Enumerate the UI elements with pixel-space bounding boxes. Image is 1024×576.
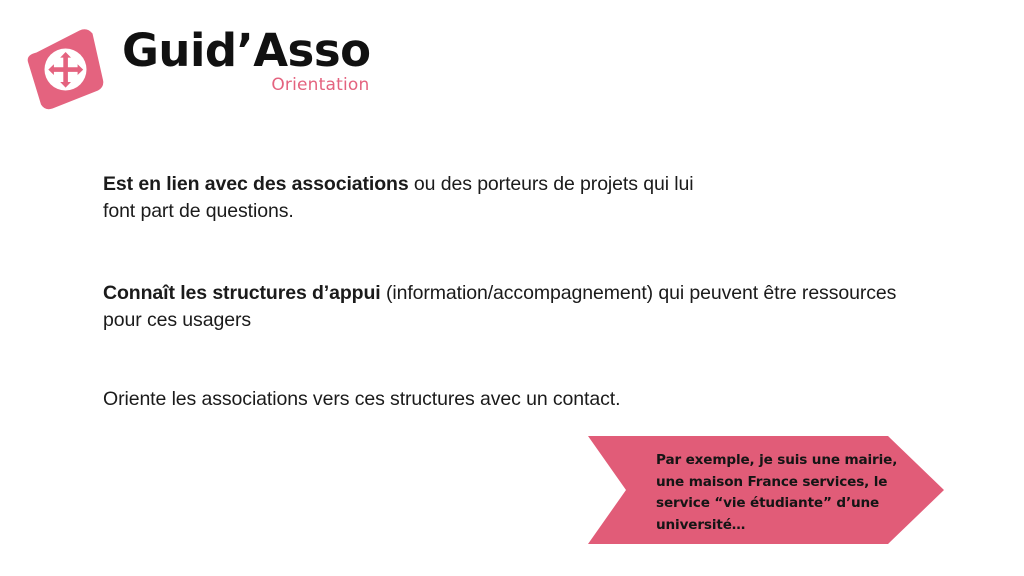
paragraph-2-lead: Connaît les structures d’appui: [103, 282, 381, 304]
body-copy: Est en lien avec des associations ou des…: [103, 171, 948, 413]
paragraph-1: Est en lien avec des associations ou des…: [103, 171, 723, 225]
paragraph-3-rest: Oriente les associations vers ces struct…: [103, 388, 620, 410]
paragraph-3: Oriente les associations vers ces struct…: [103, 386, 948, 413]
paragraph-2: Connaît les structures d’appui (informat…: [103, 280, 933, 334]
four-way-direction-arrow-icon: [24, 28, 106, 110]
slide-canvas: Guid’Asso Orientation Est en lien avec d…: [0, 0, 1024, 576]
callout-line-1: Par exemple, je suis une mairie,: [656, 450, 924, 472]
brand-subtitle: Orientation: [271, 76, 369, 95]
paragraph-1-lead: Est en lien avec des associations: [103, 173, 409, 195]
callout-line-2: une maison France services, le: [656, 472, 924, 494]
brand-wordmark: Guid’Asso Orientation: [122, 28, 371, 95]
callout-line-4: université…: [656, 515, 924, 537]
example-callout-banner: Par exemple, je suis une mairie, une mai…: [588, 436, 944, 544]
callout-text: Par exemple, je suis une mairie, une mai…: [656, 450, 924, 536]
brand-logo-lockup: Guid’Asso Orientation: [24, 24, 371, 110]
brand-title: Guid’Asso: [122, 28, 371, 74]
callout-line-3: service “vie étudiante” d’une: [656, 493, 924, 515]
